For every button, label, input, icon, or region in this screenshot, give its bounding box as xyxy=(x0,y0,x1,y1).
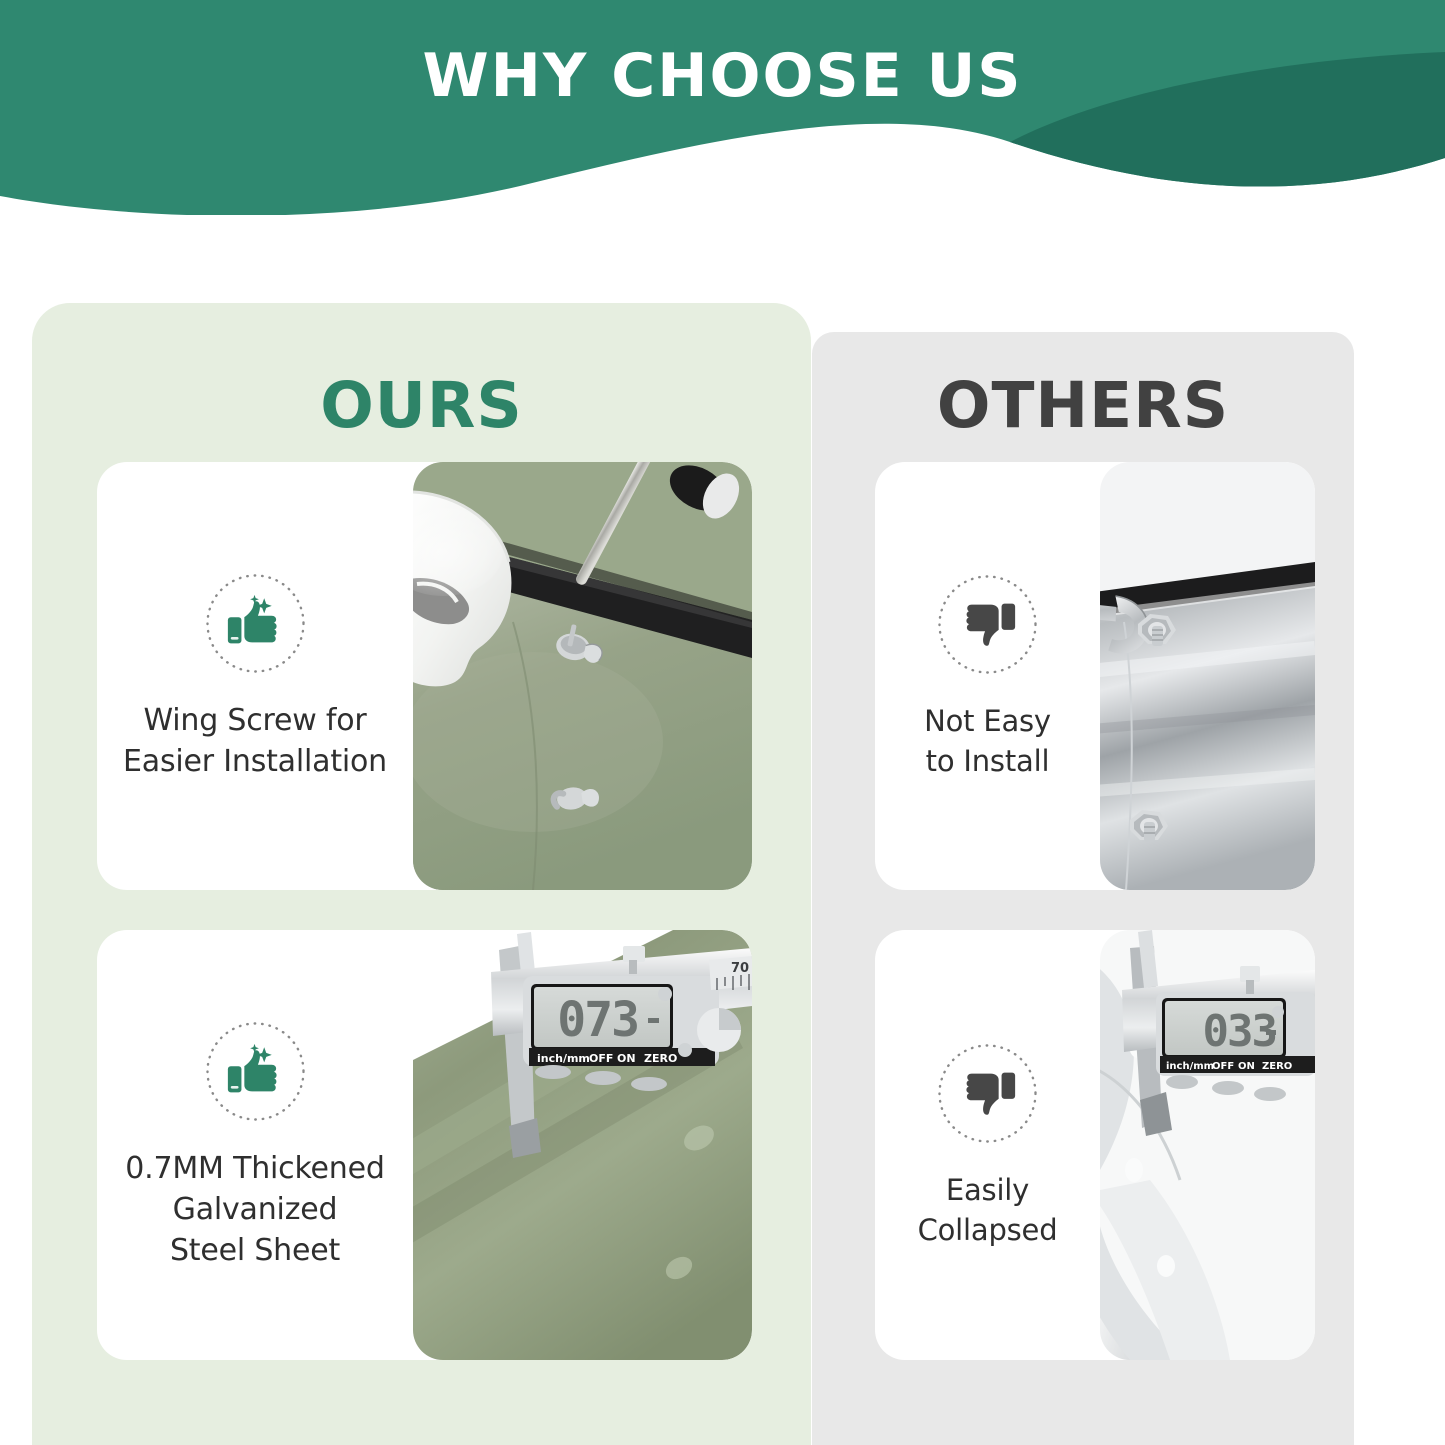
thumbs-up-sparkle-icon xyxy=(203,1019,308,1124)
others-feature-card-2: Easily Collapsed xyxy=(875,930,1315,1360)
thumbs-down-icon xyxy=(935,1041,1040,1146)
infographic-page: WHY CHOOSE US OURS OTHERS xyxy=(0,0,1445,1445)
caliper-unit-label: inch/mm xyxy=(537,1052,590,1065)
ours-feature-card-1: Wing Screw for Easier Installation xyxy=(97,462,752,890)
others-heading: OTHERS xyxy=(812,368,1354,444)
gloved-hand-wing-screw-photo xyxy=(413,462,752,890)
ours-card-2-label: 0.7MM Thickened Galvanized Steel Sheet xyxy=(125,1148,384,1271)
others-card-1-label: Not Easy to Install xyxy=(924,701,1051,781)
thumbs-up-sparkle-icon xyxy=(203,571,308,676)
wrench-hex-bolt-photo xyxy=(1100,462,1315,890)
caliper-on-label: ON xyxy=(617,1052,636,1065)
caliper-reading: 033 xyxy=(1203,1006,1276,1057)
ours-feature-card-2: 0.7MM Thickened Galvanized Steel Sheet xyxy=(97,930,752,1360)
caliper-measuring-silver-panel-photo: 033 inch/mm OFF ON ZERO xyxy=(1100,930,1315,1360)
thumbs-down-glyph xyxy=(957,593,1019,655)
caliper-zero-label: ZERO xyxy=(644,1052,677,1065)
ours-heading: OURS xyxy=(32,368,811,444)
caliper-zero-label: ZERO xyxy=(1262,1061,1292,1072)
thumbs-down-icon xyxy=(935,572,1040,677)
ours-card-2-content: 0.7MM Thickened Galvanized Steel Sheet xyxy=(97,930,413,1360)
others-feature-card-1: Not Easy to Install xyxy=(875,462,1315,890)
thumbs-up-glyph xyxy=(224,592,286,654)
caliper-off-label: OFF xyxy=(589,1052,613,1065)
others-card-1-content: Not Easy to Install xyxy=(875,462,1100,890)
caliper-on-label: ON xyxy=(1238,1061,1255,1072)
header-banner: WHY CHOOSE US xyxy=(0,0,1445,215)
thumbs-down-glyph xyxy=(957,1062,1019,1124)
others-card-2-content: Easily Collapsed xyxy=(875,930,1100,1360)
caliper-scale-label: 70 xyxy=(731,961,749,976)
page-title: WHY CHOOSE US xyxy=(0,40,1445,112)
caliper-reading: 073 xyxy=(557,992,638,1048)
thumbs-up-glyph xyxy=(224,1041,286,1103)
ours-card-1-content: Wing Screw for Easier Installation xyxy=(97,462,413,890)
caliper-unit-label: inch/mm xyxy=(1166,1061,1214,1072)
caliper-measuring-green-panel-photo: 073 inch/mm OFF ON ZERO xyxy=(413,930,752,1360)
ours-card-1-label: Wing Screw for Easier Installation xyxy=(123,700,387,782)
others-card-2-label: Easily Collapsed xyxy=(918,1170,1058,1250)
caliper-off-label: OFF xyxy=(1212,1061,1234,1072)
